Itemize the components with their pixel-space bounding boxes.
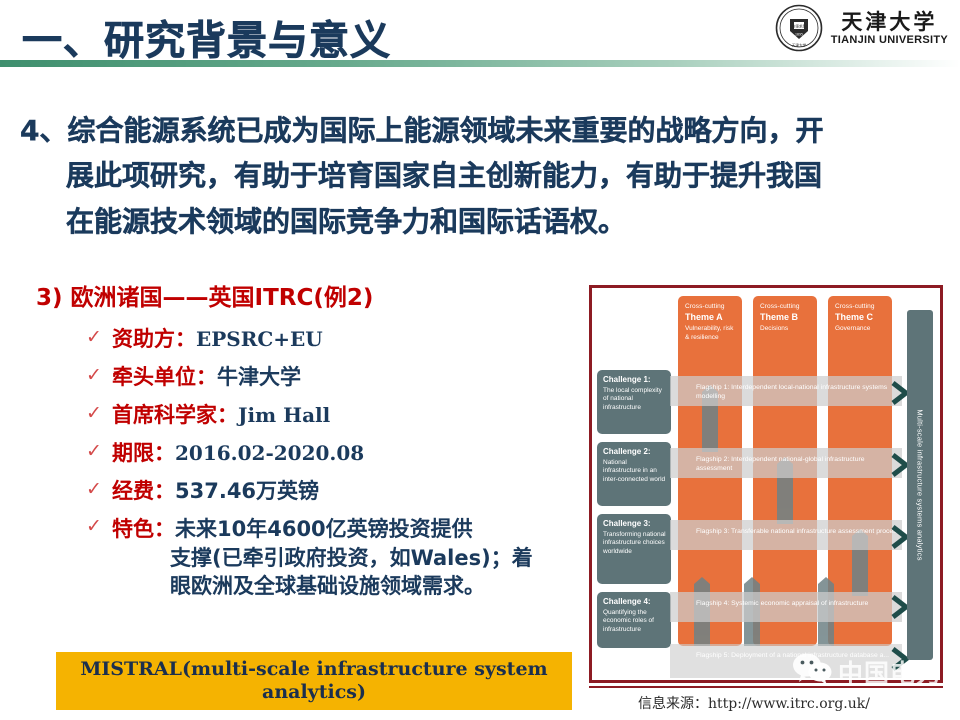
check-icon: ✓	[86, 478, 112, 502]
mistral-line-1: MISTRAL(multi-scale infrastructure syste…	[80, 658, 547, 680]
bullet-body: 经费：537.46万英镑	[112, 478, 582, 505]
challenge-box-3: Challenge 3: Transforming national infra…	[597, 514, 671, 584]
slide-header: 一、研究背景与意义 实事求是 1895 天津大学 天津大学 TIANJIN UN…	[0, 0, 960, 70]
theme-a-eyebrow: Cross-cutting	[685, 303, 736, 311]
output-bar: Multi-scale infrastructure systems analy…	[907, 310, 933, 660]
theme-b-sub: Decisions	[760, 325, 811, 334]
bullet-value-line-3: 眼欧洲及全球基础设施领域需求。	[112, 572, 582, 600]
theme-b-eyebrow: Cross-cutting	[760, 303, 811, 311]
bullet-value-line-1: 未来10年4600亿英镑投资提供	[175, 517, 473, 541]
challenge-4-desc: Quantifying the economic roles of infras…	[603, 609, 666, 634]
diagram-inner: Cross-cutting Theme A Vulnerability, ris…	[592, 288, 940, 680]
source-url[interactable]: http://www.itrc.org.uk/	[708, 696, 870, 712]
lead-paragraph: 4、综合能源系统已成为国际上能源领域未来重要的战略方向，开 展此项研究，有助于培…	[20, 108, 940, 244]
list-item-feature: ✓ 特色：未来10年4600亿英镑投资提供 支撑(已牵引政府投资，如Wales)…	[22, 515, 582, 599]
bullet-body: 牵头单位：牛津大学	[112, 364, 582, 391]
challenge-box-1: Challenge 1: The local complexity of nat…	[597, 370, 671, 434]
bullet-label: 首席科学家：	[112, 403, 238, 427]
theme-c-sub: Governance	[835, 325, 886, 334]
svg-text:1895: 1895	[795, 33, 803, 37]
list-item: ✓ 首席科学家：Jim Hall	[22, 402, 582, 429]
lead-paragraph-line-1: 4、综合能源系统已成为国际上能源领域未来重要的战略方向，开	[20, 108, 940, 153]
check-icon: ✓	[86, 326, 112, 350]
flagship-band-2: Flagship 2: Interdependent national-glob…	[670, 448, 902, 478]
check-icon: ✓	[86, 440, 112, 464]
challenge-2-desc: National infrastructure in an inter-conn…	[603, 459, 666, 484]
theme-c-eyebrow: Cross-cutting	[835, 303, 886, 311]
mistral-line-2: analytics)	[262, 681, 366, 703]
bullet-label: 期限：	[112, 441, 175, 465]
challenge-1-title: Challenge 1:	[603, 375, 666, 385]
bullet-value: 537.46万英镑	[175, 479, 319, 503]
bullet-value-line-2: 支撑(已牵引政府投资，如Wales)；着	[112, 544, 582, 572]
bullet-value: 2016.02-2020.08	[175, 441, 364, 465]
university-logo-text: 天津大学 TIANJIN UNIVERSITY	[831, 11, 948, 46]
list-item: ✓ 期限：2016.02-2020.08	[22, 440, 582, 467]
flagship-band-5: Flagship 5: Deployment of a national inf…	[670, 644, 902, 678]
check-icon: ✓	[86, 364, 112, 388]
challenge-4-title: Challenge 4:	[603, 597, 666, 607]
tianjin-university-seal-icon: 实事求是 1895 天津大学	[775, 4, 823, 52]
bullet-value: EPSRC+EU	[196, 327, 323, 351]
check-icon: ✓	[86, 515, 112, 539]
sub-heading: 3) 欧洲诸国——英国ITRC(例2)	[36, 278, 582, 312]
bullet-body: 资助方：EPSRC+EU	[112, 326, 582, 353]
bullet-body: 首席科学家：Jim Hall	[112, 402, 582, 429]
challenge-box-2: Challenge 2: National infrastructure in …	[597, 442, 671, 506]
challenge-3-desc: Transforming national infrastructure cho…	[603, 531, 666, 556]
theme-b-name: Theme B	[760, 312, 811, 324]
bullet-body: 期限：2016.02-2020.08	[112, 440, 582, 467]
challenge-3-title: Challenge 3:	[603, 519, 666, 529]
lead-paragraph-line-3: 在能源技术领域的国际竞争力和国际话语权。	[20, 199, 940, 244]
source-label: 信息来源：	[638, 695, 708, 711]
footer-divider	[589, 686, 943, 688]
theme-a-sub: Vulnerability, risk & resilience	[685, 325, 736, 343]
mistral-callout-box: MISTRAL(multi-scale infrastructure syste…	[56, 652, 572, 710]
university-logo: 实事求是 1895 天津大学 天津大学 TIANJIN UNIVERSITY	[775, 4, 948, 52]
challenge-box-4: Challenge 4: Quantifying the economic ro…	[597, 592, 671, 648]
mistral-callout-text: MISTRAL(multi-scale infrastructure syste…	[80, 658, 547, 704]
university-name-cn: 天津大学	[841, 11, 937, 32]
theme-c-name: Theme C	[835, 312, 886, 324]
flagship-band-4: Flagship 4: Systemic economic appraisal …	[670, 592, 902, 622]
list-item: ✓ 牵头单位：牛津大学	[22, 364, 582, 391]
challenge-1-desc: The local complexity of national infrast…	[603, 387, 666, 412]
challenge-2-title: Challenge 2:	[603, 447, 666, 457]
list-item: ✓ 经费：537.46万英镑	[22, 478, 582, 505]
bullet-label: 牵头单位：	[112, 365, 217, 389]
bullet-label: 资助方：	[112, 327, 196, 351]
lead-paragraph-line-2: 展此项研究，有助于培育国家自主创新能力，有助于提升我国	[20, 153, 940, 198]
check-icon: ✓	[86, 402, 112, 426]
bullet-body: 特色：未来10年4600亿英镑投资提供 支撑(已牵引政府投资，如Wales)；着…	[112, 515, 582, 599]
page-title: 一、研究背景与意义	[22, 8, 391, 66]
flagship-band-1: Flagship 1: Interdependent local-nationa…	[670, 376, 902, 406]
header-divider	[0, 60, 960, 67]
output-bar-label: Multi-scale infrastructure systems analy…	[916, 409, 925, 560]
svg-text:天津大学: 天津大学	[792, 43, 807, 48]
bullet-value: Jim Hall	[238, 403, 330, 427]
bullet-value: 牛津大学	[217, 365, 301, 389]
university-name-en: TIANJIN UNIVERSITY	[831, 35, 948, 46]
list-item: ✓ 资助方：EPSRC+EU	[22, 326, 582, 353]
left-content-column: 3) 欧洲诸国——英国ITRC(例2) ✓ 资助方：EPSRC+EU ✓ 牵头单…	[22, 278, 582, 611]
source-footer: 信息来源：http://www.itrc.org.uk/	[638, 693, 870, 713]
svg-text:实事求是: 实事求是	[792, 24, 806, 29]
bullet-label: 特色：	[112, 517, 175, 541]
slide: 一、研究背景与意义 实事求是 1895 天津大学 天津大学 TIANJIN UN…	[0, 0, 960, 720]
theme-a-name: Theme A	[685, 312, 736, 324]
mistral-framework-diagram: Cross-cutting Theme A Vulnerability, ris…	[589, 285, 943, 683]
bullet-label: 经费：	[112, 479, 175, 503]
flagship-band-3: Flagship 3: Transferable national infras…	[670, 520, 902, 550]
